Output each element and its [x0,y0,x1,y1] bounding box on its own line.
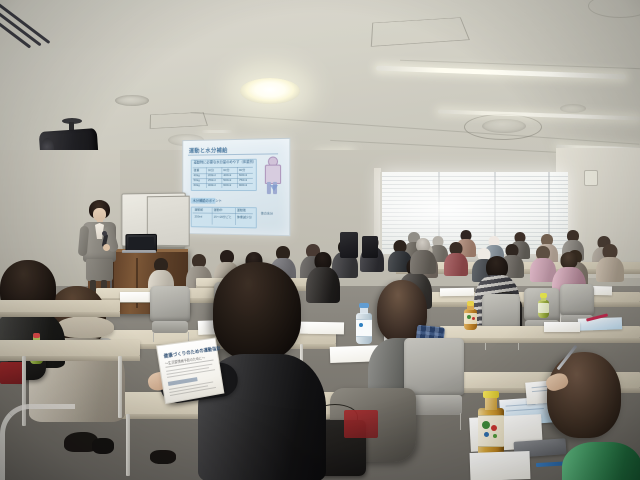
seminar-room-photo: 運動と水分補給 運動時に必要な水分量のめやす（体重別） 体重 30分 60分 9… [0,0,640,480]
attendee-green-top-writing [556,356,640,480]
av-equipment [362,236,378,258]
slide-table2-cell: 運動後 [237,209,246,212]
slide-table1-cell: 60kg [194,184,200,187]
ceiling-vent [115,95,149,106]
presenter [78,200,122,292]
ceiling-access-panel [150,112,208,129]
ceiling-vent [560,104,586,113]
av-equipment [340,232,358,258]
slide-box1-caption: 運動時に必要な水分量のめやす（体重別） [194,161,257,165]
tea-bottle-green [538,296,549,318]
slide-table1-cell: 50kg [194,179,200,182]
ceiling-tube-light [202,130,232,133]
slide-table1-cell: 40kg [194,174,200,177]
slide-title-rule [188,153,278,155]
paper-blue [578,317,622,331]
slide-table1-cell: 600ml [223,184,231,187]
desk [0,340,140,356]
red-bag-under-desk [344,410,378,438]
ceiling-tube-light [376,66,626,80]
slide-table2-cell: 運動前 [195,209,204,212]
slide-table2-cell: 体重減少分 [237,216,252,219]
slide-table2-cell: 15〜20分ごと [214,216,232,219]
tea-bottle-green-label [478,396,504,460]
desk-leg [118,356,122,418]
slide-table1-cell: 600ml [239,174,247,177]
slide-table1-cell: 500ml [223,179,231,182]
paper [544,322,580,332]
slide-table1-cell: 200ml [208,174,216,177]
tea-bottle-orange [464,304,477,330]
paper [470,451,531,480]
wall-fixture [584,170,598,186]
slide-table1-cell: 体重 [194,169,200,172]
slide-table1-cell: 250ml [208,179,216,182]
slide-table1-cell: 750ml [239,179,247,182]
projection-screen: 運動と水分補給 運動時に必要な水分量のめやす（体重別） 体重 30分 60分 9… [182,138,290,236]
slide-table2-cell: 運動中 [214,209,223,212]
ceiling-vent [482,119,526,133]
shoe [92,438,114,454]
attendee [596,244,624,280]
slide-table1-cell: 60分 [223,169,229,172]
ceiling-tube-light [438,109,640,120]
chair-frame [0,404,75,480]
slide-table1-cell: 90分 [239,168,245,171]
slide-body-figure [261,156,283,197]
desk-leg [126,414,130,476]
attendee-grey-hair [410,238,436,272]
desk [0,300,120,312]
attendee [444,242,468,274]
ceiling-downlight [240,78,300,104]
slide-figure-caption: 体の水分 [261,212,273,215]
slide-table2-cell: 250ml [195,215,203,218]
slide-table1-cell: 900ml [239,184,247,187]
slide-subhead: 水分補給のポイント [193,199,222,203]
ceiling-access-panel [371,17,470,46]
laptop[interactable] [122,234,156,254]
ceiling-vent-ring [588,0,640,18]
chair[interactable] [150,286,190,342]
shoe [150,450,176,464]
slide-table1-cell: 300ml [208,184,216,187]
slide-table1-cell: 30分 [208,169,214,172]
slide-table1-cell: 400ml [223,174,231,177]
paper [440,288,474,297]
handout-booklet[interactable]: 健康づくりのための運動指針 ～生活習慣病予防のために～ [156,337,225,404]
